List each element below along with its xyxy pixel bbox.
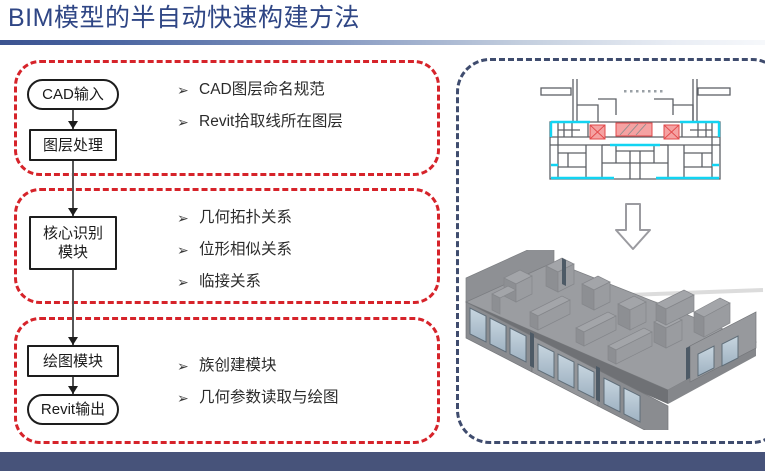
list-item: ➢ 临接关系 [177,272,292,292]
arrow-bullet-icon: ➢ [177,80,199,100]
flow-node-label: 核心识别模块 [43,224,103,262]
cad-floor-plan-image [528,75,743,200]
bim-3d-model-image [458,250,765,430]
list-item-label: Revit拾取线所在图层 [199,112,343,132]
list-item-label: 几何参数读取与绘图 [199,388,339,408]
flow-node-cad-input[interactable]: CAD输入 [27,79,119,110]
arrowhead-icon [68,208,78,216]
list-item-label: 几何拓扑关系 [199,208,292,228]
flow-node-label: CAD输入 [42,85,104,104]
arrowhead-icon [68,337,78,345]
list-item-label: 临接关系 [199,272,261,292]
footer-bar [0,452,765,471]
arrow-bullet-icon: ➢ [177,388,199,408]
list-item-label: 位形相似关系 [199,240,292,260]
arrow-bullet-icon: ➢ [177,240,199,260]
page-title: BIM模型的半自动快速构建方法 [8,2,360,34]
connector-core-to-draw [72,270,74,345]
list-item: ➢ Revit拾取线所在图层 [177,112,343,132]
list-item: ➢ 族创建模块 [177,356,339,376]
arrowhead-icon [68,386,78,394]
flow-node-core-recognition[interactable]: 核心识别模块 [29,216,117,270]
list-item: ➢ 几何拓扑关系 [177,208,292,228]
flow-node-revit-output[interactable]: Revit输出 [27,394,119,425]
flow-node-layer-process[interactable]: 图层处理 [29,129,117,161]
list-item: ➢ 几何参数读取与绘图 [177,388,339,408]
arrowhead-icon [68,121,78,129]
list-item: ➢ CAD图层命名规范 [177,80,343,100]
bullet-list-input: ➢ CAD图层命名规范 ➢ Revit拾取线所在图层 [177,80,343,144]
list-item-label: 族创建模块 [199,356,277,376]
flow-node-label: Revit输出 [41,400,105,419]
title-underline-rule [0,40,765,45]
down-arrow-icon [612,202,654,252]
flow-node-label: 绘图模块 [43,352,103,371]
slide-canvas: BIM模型的半自动快速构建方法 CAD输入 图层处理 ➢ CAD图层命名规范 ➢… [0,0,765,471]
arrow-bullet-icon: ➢ [177,272,199,292]
flow-node-label: 图层处理 [43,136,103,155]
bullet-list-output: ➢ 族创建模块 ➢ 几何参数读取与绘图 [177,356,339,420]
list-item: ➢ 位形相似关系 [177,240,292,260]
flow-node-drawing-module[interactable]: 绘图模块 [27,345,119,377]
bullet-list-recognition: ➢ 几何拓扑关系 ➢ 位形相似关系 ➢ 临接关系 [177,208,292,304]
arrow-bullet-icon: ➢ [177,112,199,132]
list-item-label: CAD图层命名规范 [199,80,325,100]
arrow-bullet-icon: ➢ [177,356,199,376]
arrow-bullet-icon: ➢ [177,208,199,228]
